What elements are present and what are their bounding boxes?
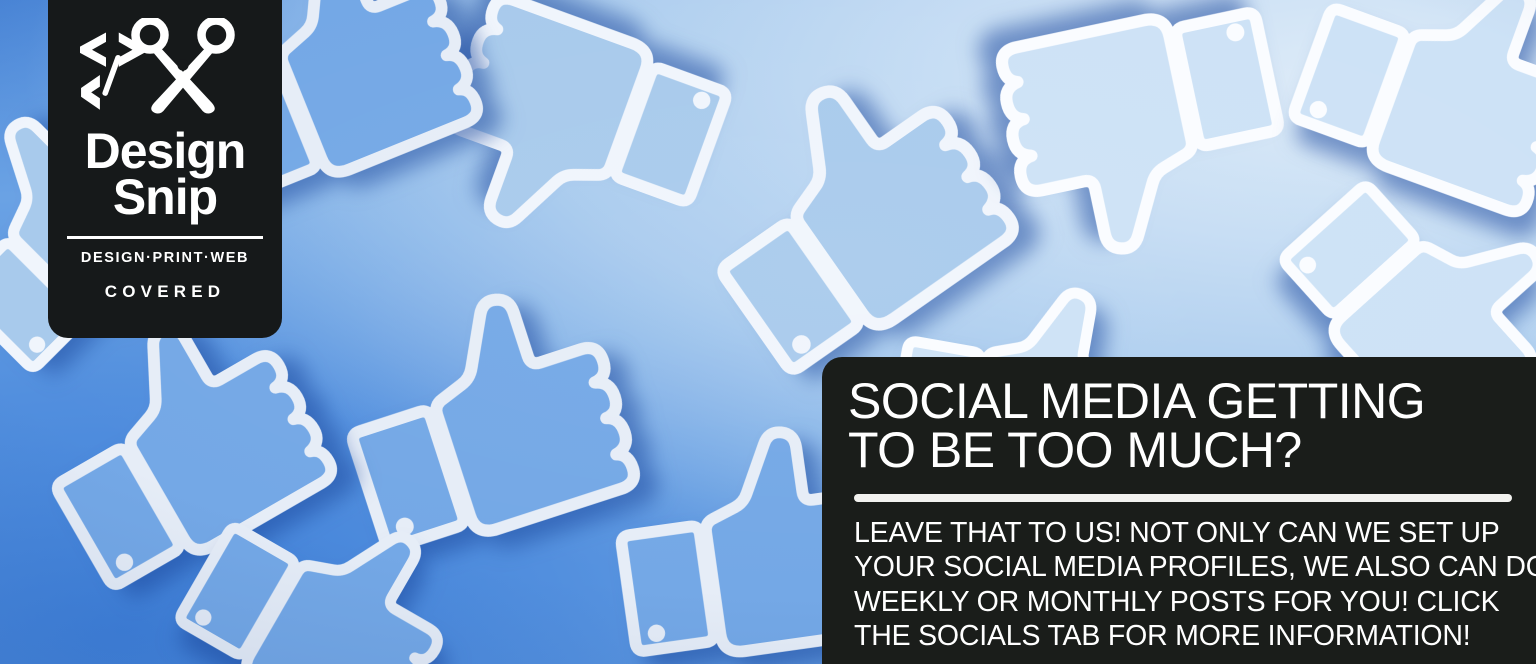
- panel-divider: [854, 494, 1512, 502]
- logo-word-design: Design: [85, 128, 246, 174]
- headline-line-1: SOCIAL MEDIA GETTING: [848, 377, 1526, 426]
- logo-badge[interactable]: Design Snip DESIGN·PRINT·WEB COVERED: [48, 0, 282, 338]
- panel-body-copy: LEAVE THAT TO US! NOT ONLY CAN WE SET UP…: [848, 516, 1526, 654]
- body-line-4: THE SOCIALS TAB FOR MORE INFORMATION!: [854, 619, 1526, 653]
- logo-word-snip: Snip: [85, 174, 246, 220]
- code-brackets-icon: [80, 33, 106, 67]
- body-line-3: WEEKLY OR MONTHLY POSTS FOR YOU! CLICK: [854, 585, 1526, 619]
- promo-banner: {} Design: [0, 0, 1536, 664]
- logo-wordmark: Design Snip: [85, 128, 246, 220]
- logo-mark: [72, 18, 258, 114]
- scissors-icon: [136, 21, 231, 114]
- logo-tagline: DESIGN·PRINT·WEB: [81, 250, 249, 266]
- panel-headline: SOCIAL MEDIA GETTING TO BE TOO MUCH?: [848, 377, 1526, 475]
- promo-text-panel: SOCIAL MEDIA GETTING TO BE TOO MUCH? LEA…: [822, 357, 1536, 664]
- logo-tagline-covered: COVERED: [105, 282, 225, 302]
- body-line-1: LEAVE THAT TO US! NOT ONLY CAN WE SET UP: [854, 516, 1526, 550]
- body-line-2: YOUR SOCIAL MEDIA PROFILES, WE ALSO CAN …: [854, 550, 1526, 584]
- logo-divider: [67, 236, 263, 239]
- headline-line-2: TO BE TOO MUCH?: [848, 426, 1526, 475]
